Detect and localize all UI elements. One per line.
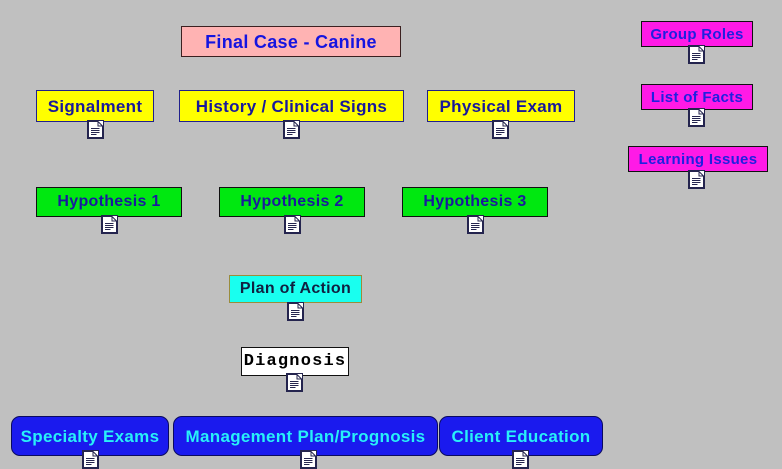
document-icon[interactable] [300, 450, 317, 469]
node-learning-issues[interactable]: Learning Issues [628, 146, 768, 172]
node-label: Final Case - Canine [205, 33, 377, 51]
node-label: Group Roles [650, 27, 743, 42]
node-group-roles[interactable]: Group Roles [641, 21, 753, 47]
node-plan-of-action[interactable]: Plan of Action [229, 275, 362, 303]
node-label: Management Plan/Prognosis [186, 428, 426, 445]
node-label: Hypothesis 3 [423, 194, 526, 210]
node-label: Specialty Exams [21, 428, 160, 445]
document-icon[interactable] [87, 120, 104, 139]
node-hypothesis-3[interactable]: Hypothesis 3 [402, 187, 548, 217]
node-label: Hypothesis 1 [57, 194, 160, 210]
document-icon[interactable] [688, 170, 705, 189]
node-physical-exam[interactable]: Physical Exam [427, 90, 575, 122]
node-hypothesis-1[interactable]: Hypothesis 1 [36, 187, 182, 217]
node-label: History / Clinical Signs [196, 98, 387, 115]
node-label: List of Facts [651, 90, 743, 105]
document-icon[interactable] [284, 215, 301, 234]
document-icon[interactable] [82, 450, 99, 469]
node-label: Learning Issues [639, 152, 758, 167]
document-icon[interactable] [101, 215, 118, 234]
node-list-of-facts[interactable]: List of Facts [641, 84, 753, 110]
document-icon[interactable] [287, 302, 304, 321]
node-label: Plan of Action [240, 281, 351, 297]
node-history-clinical-signs[interactable]: History / Clinical Signs [179, 90, 404, 122]
document-icon[interactable] [492, 120, 509, 139]
node-hypothesis-2[interactable]: Hypothesis 2 [219, 187, 365, 217]
document-icon[interactable] [283, 120, 300, 139]
document-icon[interactable] [688, 45, 705, 64]
node-label: Physical Exam [440, 98, 563, 115]
node-label: Signalment [48, 98, 143, 115]
node-label: Client Education [452, 428, 591, 445]
case-map-canvas: Final Case - Canine Signalment History /… [0, 0, 782, 468]
node-signalment[interactable]: Signalment [36, 90, 154, 122]
node-label: Hypothesis 2 [240, 194, 343, 210]
document-icon[interactable] [286, 373, 303, 392]
document-icon[interactable] [467, 215, 484, 234]
document-icon[interactable] [512, 450, 529, 469]
node-final-case[interactable]: Final Case - Canine [181, 26, 401, 57]
node-label: Diagnosis [244, 353, 347, 370]
node-diagnosis[interactable]: Diagnosis [241, 347, 349, 376]
document-icon[interactable] [688, 108, 705, 127]
